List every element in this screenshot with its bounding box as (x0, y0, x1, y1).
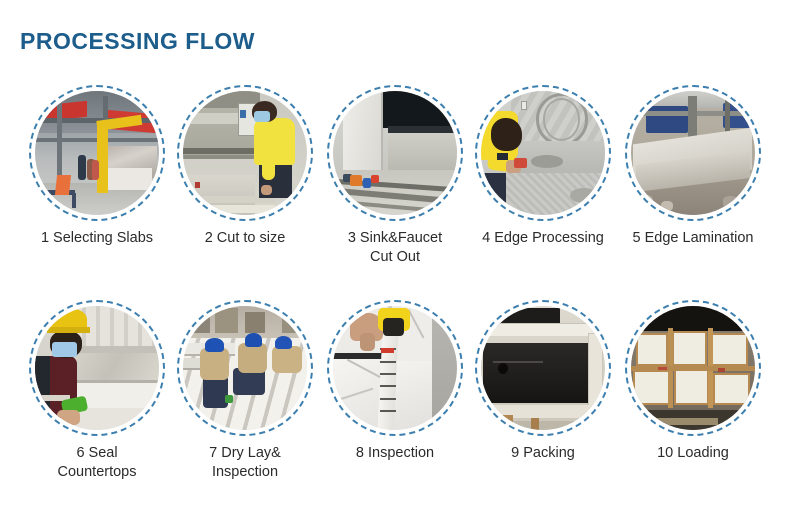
flow-step-7[interactable]: 7 Dry Lay& Inspection (170, 300, 320, 482)
flow-step-10[interactable]: 10 Loading (618, 300, 768, 463)
flow-step-8[interactable]: 8 Inspection (320, 300, 470, 463)
step-4-label: 4 Edge Processing (468, 229, 618, 248)
step-10-photo-frame (625, 300, 761, 436)
flow-step-3[interactable]: 3 Sink&Faucet Cut Out (320, 85, 470, 267)
step-2-photo-frame (177, 85, 313, 221)
flow-step-1[interactable]: 1 Selecting Slabs (22, 85, 172, 248)
step-7-label: 7 Dry Lay& Inspection (170, 444, 320, 482)
sealing-countertops-image (35, 306, 159, 430)
step-6-photo-frame (29, 300, 165, 436)
flow-step-5[interactable]: 5 Edge Lamination (618, 85, 768, 248)
step-5-photo-frame (625, 85, 761, 221)
step-8-photo-frame (327, 300, 463, 436)
step-9-label: 9 Packing (468, 444, 618, 463)
tape-measure-inspection-image (333, 306, 457, 430)
step-9-photo-frame (475, 300, 611, 436)
container-loading-image (631, 306, 755, 430)
crate-packing-image (481, 306, 605, 430)
step-1-photo-frame (29, 85, 165, 221)
bridge-saw-cutting-image (183, 91, 307, 215)
flow-step-9[interactable]: 9 Packing (468, 300, 618, 463)
step-10-label: 10 Loading (618, 444, 768, 463)
step-3-photo-frame (327, 85, 463, 221)
laminated-stone-edge-image (631, 91, 755, 215)
step-3-label: 3 Sink&Faucet Cut Out (320, 229, 470, 267)
warehouse-slab-selection-image (35, 91, 159, 215)
step-4-photo-frame (475, 85, 611, 221)
flow-step-6[interactable]: 6 Seal Countertops (22, 300, 172, 482)
step-6-label: 6 Seal Countertops (22, 444, 172, 482)
flow-step-2[interactable]: 2 Cut to size (170, 85, 320, 248)
flow-step-4[interactable]: 4 Edge Processing (468, 85, 618, 248)
step-5-label: 5 Edge Lamination (618, 229, 768, 248)
step-2-label: 2 Cut to size (170, 229, 320, 248)
step-7-photo-frame (177, 300, 313, 436)
edge-processing-worker-image (481, 91, 605, 215)
page-title: PROCESSING FLOW (20, 28, 255, 55)
step-8-label: 8 Inspection (320, 444, 470, 463)
sink-faucet-cutout-image (333, 91, 457, 215)
dry-lay-inspection-image (183, 306, 307, 430)
step-1-label: 1 Selecting Slabs (22, 229, 172, 248)
processing-flow-page: PROCESSING FLOW 1 Selecting Slabs (0, 0, 790, 520)
